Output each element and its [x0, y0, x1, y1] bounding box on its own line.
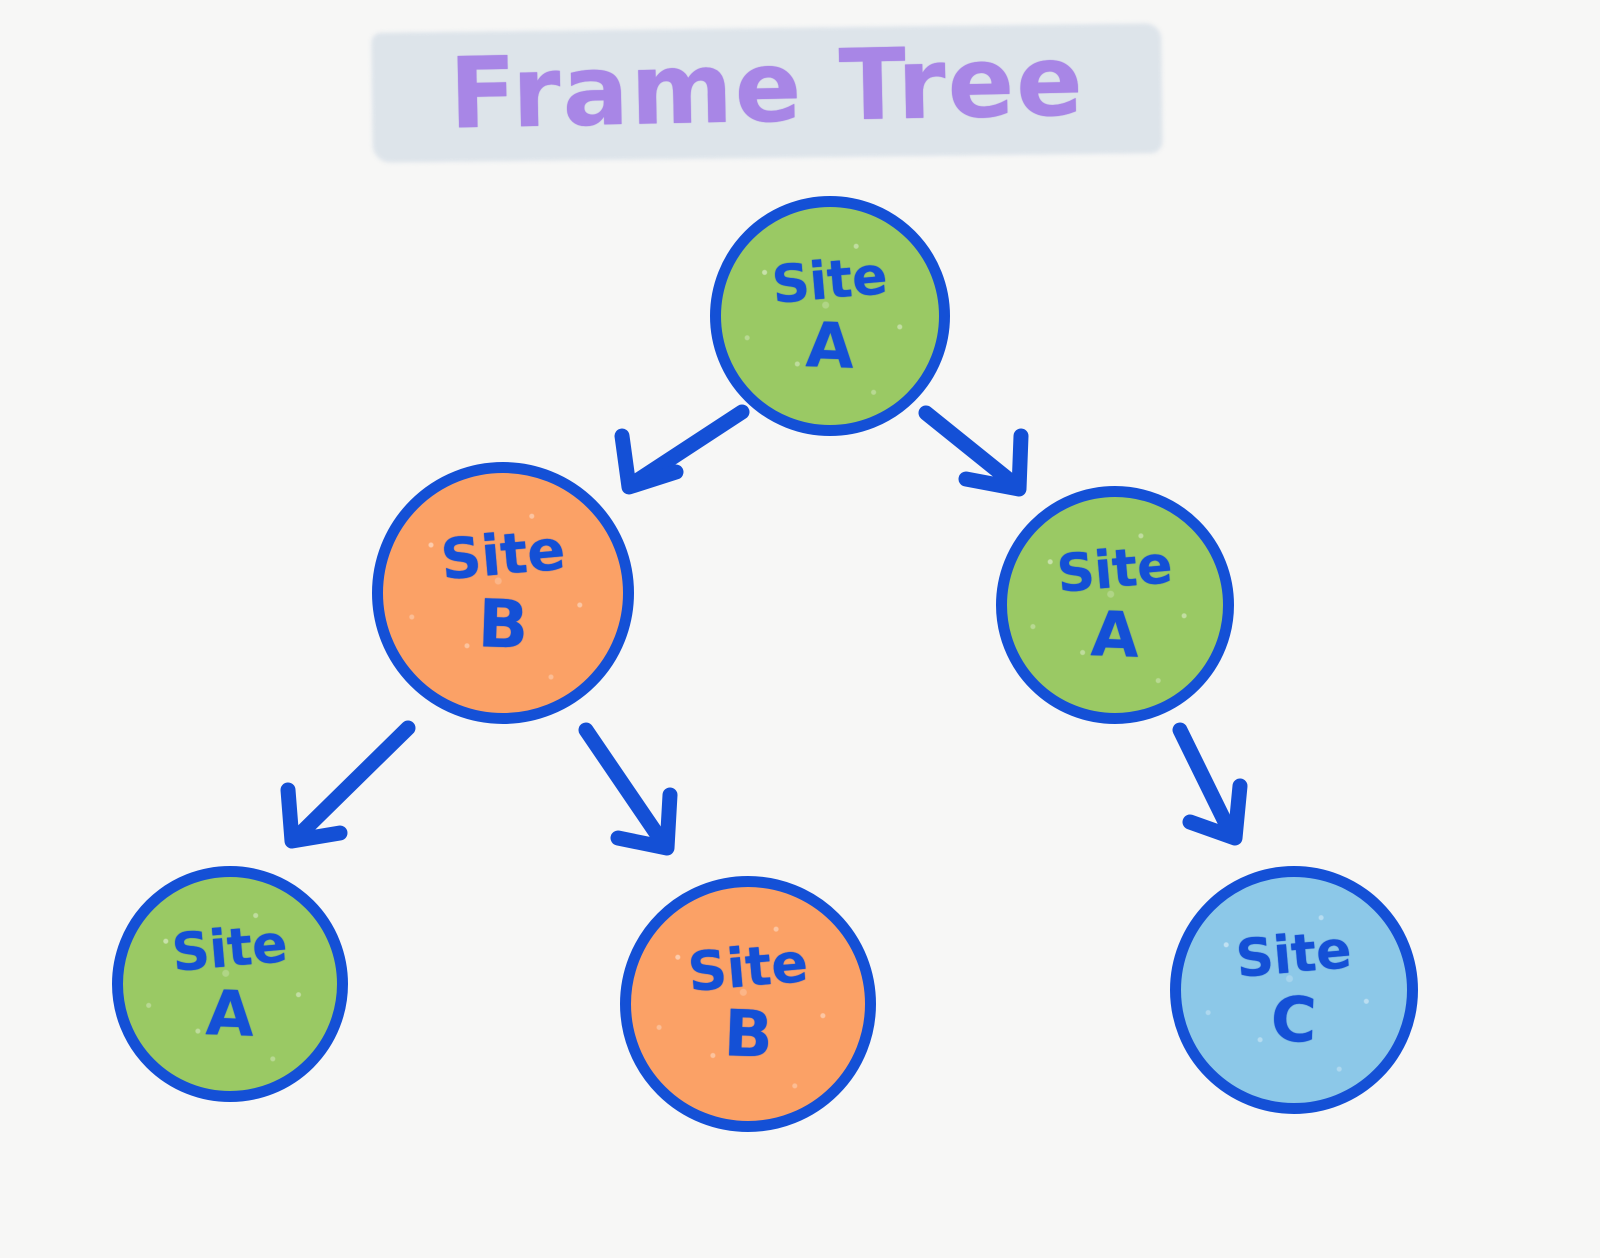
node-site-id: B: [477, 591, 530, 659]
node-site-label: Site: [439, 523, 568, 590]
node-site-a-root[interactable]: Site A: [710, 196, 950, 436]
node-site-b-level2[interactable]: Site B: [620, 876, 876, 1132]
node-site-id: C: [1270, 988, 1318, 1052]
node-site-c-level2[interactable]: Site C: [1170, 866, 1418, 1114]
node-site-b-level1[interactable]: Site B: [372, 462, 634, 724]
edge-site-b-to-site-a: [288, 728, 408, 841]
node-site-label: Site: [1055, 539, 1174, 601]
node-site-id: A: [205, 982, 255, 1046]
node-site-a-level1[interactable]: Site A: [996, 486, 1234, 724]
node-site-id: A: [1090, 603, 1140, 667]
node-site-id: A: [805, 314, 855, 378]
node-site-a-level2[interactable]: Site A: [112, 866, 348, 1102]
edge-site-a-to-site-c: [1180, 730, 1240, 838]
node-site-label: Site: [770, 250, 889, 312]
node-site-id: B: [723, 1002, 774, 1068]
node-site-label: Site: [1234, 924, 1353, 986]
frame-tree-diagram: Frame Tree Site A: [0, 0, 1600, 1258]
title-text: Frame Tree: [371, 10, 1164, 167]
page-title: Frame Tree: [372, 18, 1162, 158]
node-site-label: Site: [686, 936, 810, 1000]
edge-root-to-site-b: [622, 412, 742, 487]
node-site-label: Site: [170, 918, 289, 980]
edge-site-b-to-site-b: [586, 730, 670, 848]
edge-root-to-site-a-right: [926, 413, 1021, 489]
